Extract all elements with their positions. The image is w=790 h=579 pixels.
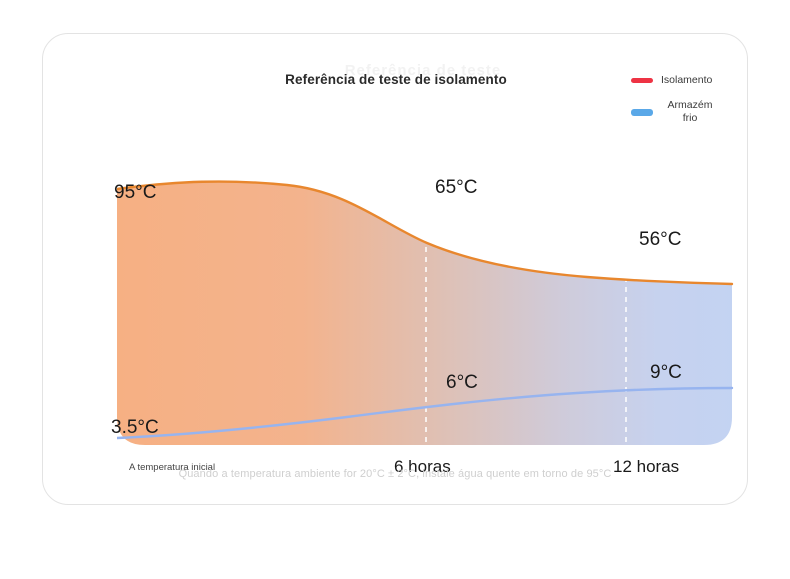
chart-area-fill	[117, 167, 736, 446]
value-label-hot-start: 95°C	[114, 182, 156, 204]
value-label-cold-end: 9°C	[650, 362, 682, 384]
chart-footnote: Quando a temperatura ambiente for 20°C ±…	[0, 468, 790, 480]
value-label-cold-start: 3.5°C	[111, 417, 159, 439]
chart-plot-area	[117, 167, 736, 446]
legend-label-armazem-frio: Armazém frio	[661, 99, 719, 125]
legend-label-isolamento: Isolamento	[661, 74, 712, 87]
legend-item-armazem-frio[interactable]: Armazém frio	[631, 99, 737, 125]
chart-svg	[117, 167, 736, 446]
value-label-cold-mid: 6°C	[446, 372, 478, 394]
value-label-hot-mid: 65°C	[435, 177, 477, 199]
chart-legend: Isolamento Armazém frio	[631, 74, 737, 137]
screenshot-root: Referência de teste Referência de teste …	[0, 0, 790, 579]
legend-line-blue-icon	[631, 109, 653, 116]
chart-card: Referência de teste Referência de teste …	[42, 33, 748, 505]
legend-line-red-icon	[631, 78, 653, 83]
legend-item-isolamento[interactable]: Isolamento	[631, 74, 737, 87]
value-label-hot-end: 56°C	[639, 229, 681, 251]
